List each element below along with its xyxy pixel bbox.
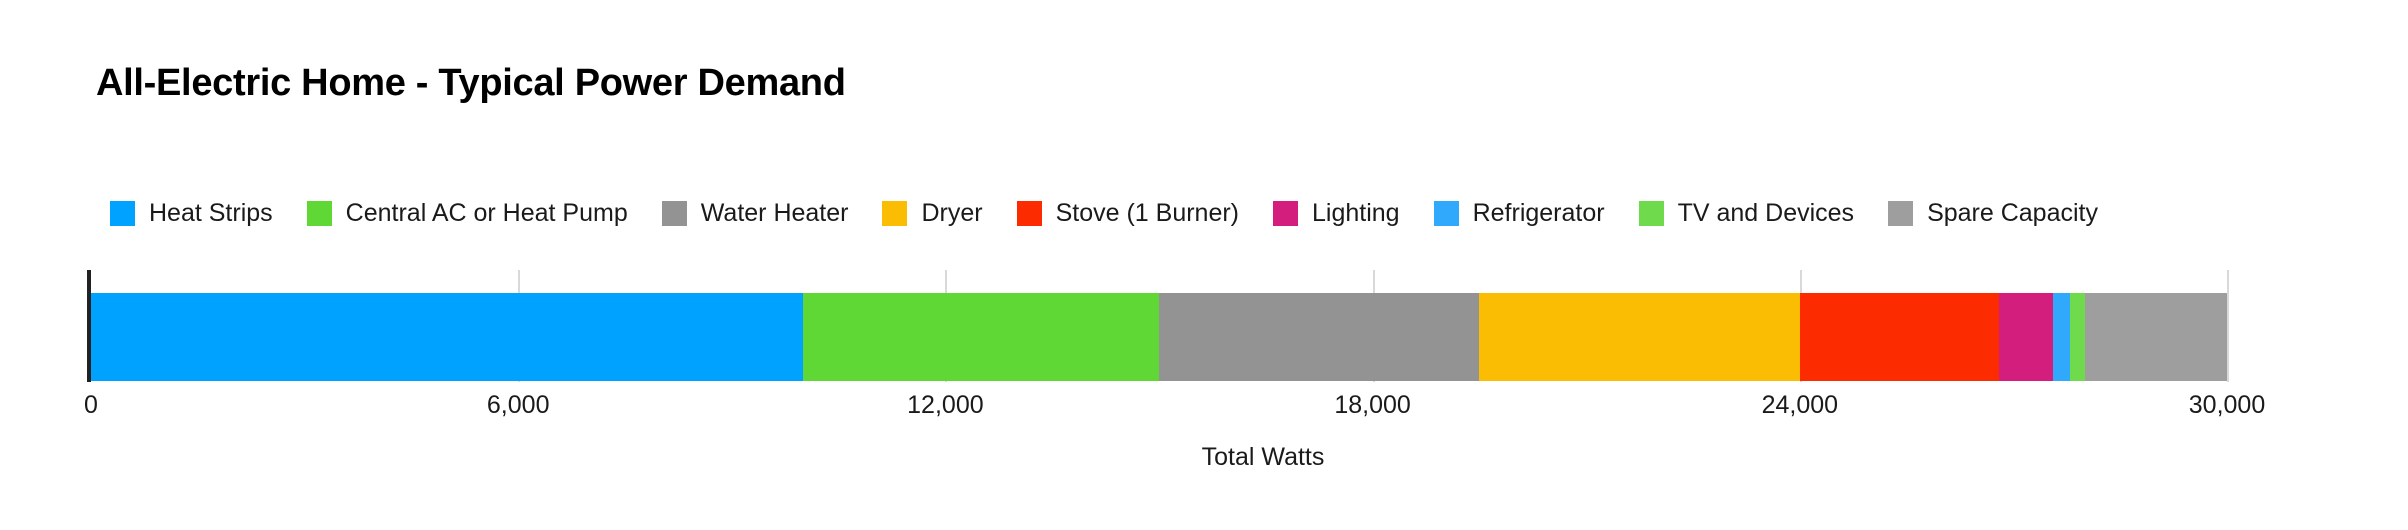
legend-label: Dryer bbox=[921, 201, 982, 226]
legend-label: Refrigerator bbox=[1473, 201, 1605, 226]
bar-segment[interactable] bbox=[2085, 293, 2227, 381]
legend-swatch-icon bbox=[662, 201, 687, 226]
legend-item[interactable]: Central AC or Heat Pump bbox=[307, 196, 628, 230]
x-axis-tick-label: 12,000 bbox=[907, 390, 983, 420]
legend-swatch-icon bbox=[882, 201, 907, 226]
bar-container bbox=[91, 293, 2227, 381]
legend-label: TV and Devices bbox=[1678, 201, 1854, 226]
legend-label: Water Heater bbox=[701, 201, 849, 226]
x-axis-tick-label: 30,000 bbox=[2189, 390, 2265, 420]
legend-swatch-icon bbox=[307, 201, 332, 226]
legend-swatch-icon bbox=[110, 201, 135, 226]
x-axis-tick-label: 18,000 bbox=[1334, 390, 1410, 420]
legend-swatch-icon bbox=[1639, 201, 1664, 226]
bar-segment[interactable] bbox=[1159, 293, 1479, 381]
bar-segment[interactable] bbox=[2053, 293, 2071, 381]
bar-segment[interactable] bbox=[91, 293, 803, 381]
legend-item[interactable]: Lighting bbox=[1273, 196, 1400, 230]
legend-item[interactable]: Stove (1 Burner) bbox=[1017, 196, 1239, 230]
x-axis-title-text: Total Watts bbox=[1202, 443, 1325, 471]
legend-item[interactable]: Spare Capacity bbox=[1888, 196, 2098, 230]
legend-swatch-icon bbox=[1434, 201, 1459, 226]
legend-item[interactable]: Refrigerator bbox=[1434, 196, 1605, 230]
legend-label: Heat Strips bbox=[149, 201, 273, 226]
legend-swatch-icon bbox=[1017, 201, 1042, 226]
legend-label: Spare Capacity bbox=[1927, 201, 2098, 226]
x-axis-tick-label: 24,000 bbox=[1762, 390, 1838, 420]
legend-swatch-icon bbox=[1273, 201, 1298, 226]
legend-label: Lighting bbox=[1312, 201, 1400, 226]
legend-item[interactable]: Water Heater bbox=[662, 196, 849, 230]
chart-title: All-Electric Home - Typical Power Demand bbox=[96, 62, 846, 105]
chart-legend: Heat StripsCentral AC or Heat PumpWater … bbox=[110, 196, 2132, 230]
legend-item[interactable]: Heat Strips bbox=[110, 196, 273, 230]
plot-area bbox=[87, 270, 2227, 382]
stacked-bar-chart: All-Electric Home - Typical Power Demand… bbox=[0, 0, 2408, 530]
legend-swatch-icon bbox=[1888, 201, 1913, 226]
stacked-bar bbox=[91, 293, 2227, 381]
bar-segment[interactable] bbox=[1999, 293, 2052, 381]
legend-item[interactable]: Dryer bbox=[882, 196, 982, 230]
x-axis-tick-label: 0 bbox=[84, 390, 98, 420]
legend-label: Stove (1 Burner) bbox=[1056, 201, 1239, 226]
x-axis-tick-label: 6,000 bbox=[487, 390, 550, 420]
bar-segment[interactable] bbox=[2070, 293, 2085, 381]
bar-segment[interactable] bbox=[803, 293, 1159, 381]
gridline bbox=[2227, 270, 2229, 382]
legend-item[interactable]: TV and Devices bbox=[1639, 196, 1854, 230]
x-axis-title: Total Watts bbox=[0, 443, 2408, 472]
bar-segment[interactable] bbox=[1800, 293, 1999, 381]
legend-label: Central AC or Heat Pump bbox=[346, 201, 628, 226]
bar-segment[interactable] bbox=[1479, 293, 1799, 381]
x-axis-tick-labels: 06,00012,00018,00024,00030,000 bbox=[87, 390, 2227, 430]
